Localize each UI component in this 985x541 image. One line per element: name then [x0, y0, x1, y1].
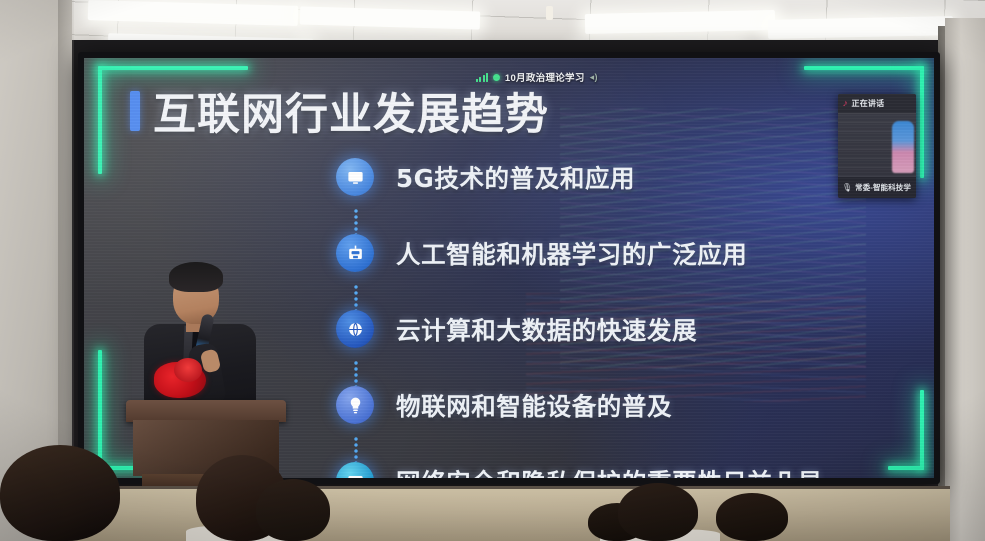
- slide-bullet-timeline: 5G技术的普及和应用 人工智能和机器学习的广泛应用 云计算和大数据的快速发展: [336, 152, 896, 478]
- list-item: 云计算和大数据的快速发展: [336, 304, 896, 354]
- page-title: 互联网行业发展趋势: [130, 80, 549, 142]
- list-item-label: 物联网和智能设备的普及: [396, 388, 672, 423]
- lightbulb-icon: [336, 386, 374, 424]
- list-item: 人工智能和机器学习的广泛应用: [336, 228, 896, 278]
- smoke-detector: [546, 6, 553, 20]
- microphone-icon: 🎙: [842, 183, 852, 192]
- video-panel-footer: 🎙 常委-智能科技学: [838, 177, 916, 198]
- cloud-globe-icon: [336, 310, 374, 348]
- title-accent-bar: [130, 91, 140, 131]
- participant-name-label: 常委-智能科技学: [855, 182, 911, 193]
- speaker-icon: ◂): [590, 72, 598, 83]
- ceiling-light: [768, 16, 953, 39]
- video-feed-person: [892, 121, 914, 173]
- podium-top: [126, 400, 286, 422]
- conference-room-scene: 10月政治理论学习 ◂) 互联网行业发展趋势 5G技术的普及和应用: [0, 0, 985, 541]
- video-conference-participant-panel[interactable]: ♪ 正在讲话 🎙 常委-智能科技学: [838, 94, 916, 198]
- list-item-label: 网络安全和隐私保护的重要性日益凸显: [396, 464, 823, 479]
- list-item-label: 人工智能和机器学习的广泛应用: [396, 236, 747, 271]
- list-item: 网络安全和隐私保护的重要性日益凸显: [336, 456, 896, 478]
- monitor-icon: [336, 158, 374, 196]
- audience-head: [256, 479, 330, 541]
- list-item-label: 5G技术的普及和应用: [396, 160, 635, 195]
- audience-head: [618, 483, 698, 541]
- robot-icon: [336, 234, 374, 272]
- list-item: 物联网和智能设备的普及: [336, 380, 896, 430]
- red-flower-corsage-center: [174, 358, 202, 382]
- video-panel-feed[interactable]: [838, 113, 916, 177]
- list-item-label: 云计算和大数据的快速发展: [396, 312, 697, 347]
- audience-head: [0, 445, 120, 541]
- wall-wainscot-edge: [60, 486, 950, 489]
- list-item: 5G技术的普及和应用: [336, 152, 896, 202]
- video-panel-status-header: ♪ 正在讲话: [838, 94, 916, 113]
- right-wall: [945, 18, 985, 541]
- slide-title-text: 互联网行业发展趋势: [153, 80, 549, 142]
- presenter-hair: [169, 262, 223, 292]
- ceiling-light: [585, 10, 775, 34]
- speaking-icon: ♪: [842, 99, 848, 108]
- shield-monitor-icon: [336, 462, 374, 478]
- audience-head: [716, 493, 788, 541]
- video-panel-status-label: 正在讲话: [852, 98, 885, 109]
